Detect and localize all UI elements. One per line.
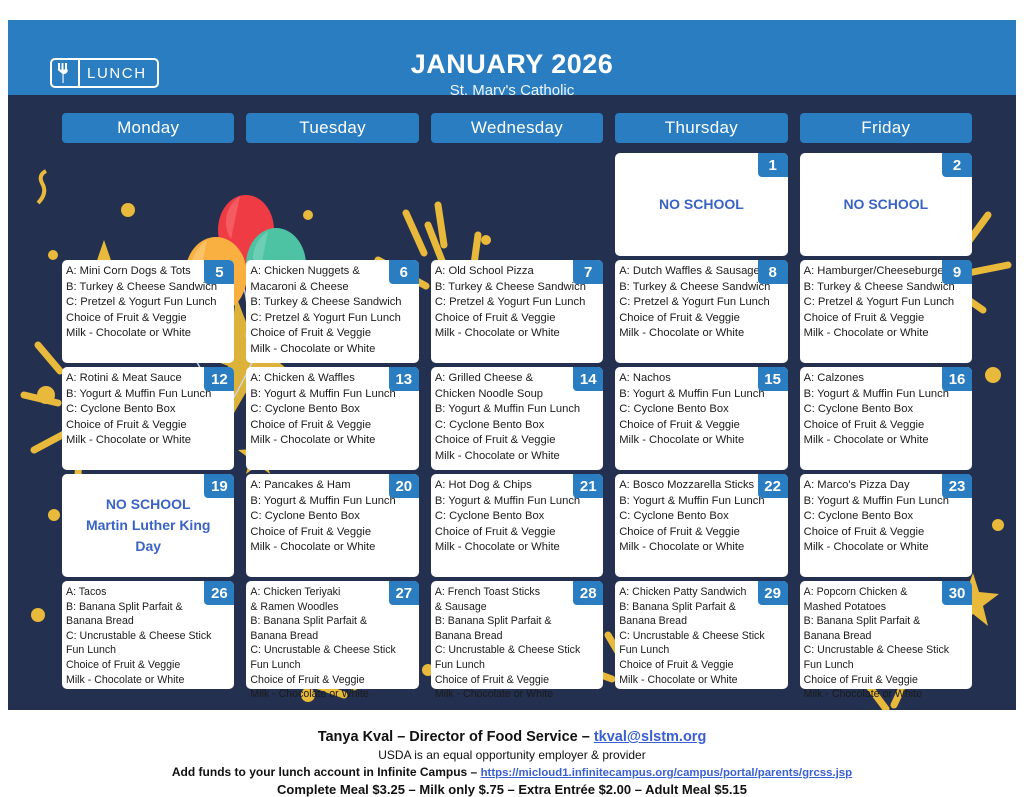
menu-line: B: Banana Split Parfait & [250, 614, 416, 629]
day-number: 12 [204, 367, 234, 391]
day-number: 15 [758, 367, 788, 391]
menu-line: Choice of Fruit & Veggie [804, 311, 970, 327]
menu-line: Choice of Fruit & Veggie [804, 418, 970, 434]
menu-line: Milk - Chocolate or White [250, 540, 416, 556]
menu-line: Milk - Chocolate or White [804, 326, 970, 342]
menu-line: Milk - Chocolate or White [804, 540, 970, 556]
menu-line: Banana Bread [435, 629, 601, 644]
calendar-day-29[interactable]: 29 A: Chicken Patty SandwichB: Banana Sp… [615, 581, 787, 689]
day-header-thursday: Thursday [615, 113, 787, 143]
menu-line: Milk - Chocolate or White [619, 540, 785, 556]
menu-line: C: Uncrustable & Cheese Stick [250, 643, 416, 658]
menu-line: C: Cyclone Bento Box [250, 509, 416, 525]
menu-line: Choice of Fruit & Veggie [250, 525, 416, 541]
calendar-body: Monday Tuesday Wednesday Thursday Friday… [8, 95, 1016, 710]
menu-line: Milk - Chocolate or White [250, 342, 416, 358]
day-number: 2 [942, 153, 972, 177]
menu-line: Milk - Chocolate or White [435, 326, 601, 342]
menu-line: C: Cyclone Bento Box [619, 402, 785, 418]
calendar-day-27[interactable]: 27 A: Chicken Teriyaki& Ramen WoodlesB: … [246, 581, 418, 689]
day-number: 19 [204, 474, 234, 498]
menu-line: Banana Bread [804, 629, 970, 644]
menu-line: Milk - Chocolate or White [435, 687, 601, 702]
calendar-day-16[interactable]: 16 A: CalzonesB: Yogurt & Muffin Fun Lun… [800, 367, 972, 470]
calendar-cell-blank [62, 153, 234, 256]
calendar-header: LUNCH JANUARY 2026 St. Mary's Catholic [8, 20, 1016, 95]
menu-line: Milk - Chocolate or White [619, 433, 785, 449]
menu-line: C: Uncrustable & Cheese Stick [66, 629, 232, 644]
menu-line: Milk - Chocolate or White [66, 673, 232, 688]
menu-line: Banana Bread [250, 629, 416, 644]
menu-line: Choice of Fruit & Veggie [250, 326, 416, 342]
menu-line: Fun Lunch [804, 658, 970, 673]
menu-line: C: Cyclone Bento Box [804, 509, 970, 525]
day-number: 30 [942, 581, 972, 605]
day-number: 16 [942, 367, 972, 391]
day-number: 8 [758, 260, 788, 284]
menu-line: Choice of Fruit & Veggie [66, 311, 232, 327]
menu-line: C: Cyclone Bento Box [435, 509, 601, 525]
menu-line: Choice of Fruit & Veggie [619, 418, 785, 434]
calendar-week-row: 5 A: Mini Corn Dogs & TotsB: Turkey & Ch… [62, 260, 972, 363]
menu-line: B: Banana Split Parfait & [804, 614, 970, 629]
menu-line: C: Cyclone Bento Box [250, 402, 416, 418]
add-funds-label: Add funds to your lunch account in Infin… [172, 765, 481, 779]
calendar-week-row: 1 NO SCHOOL 2 NO SCHOOL [62, 153, 972, 256]
menu-line: Milk - Chocolate or White [804, 433, 970, 449]
calendar-day-15[interactable]: 15 A: NachosB: Yogurt & Muffin Fun Lunch… [615, 367, 787, 470]
menu-line: Fun Lunch [250, 658, 416, 673]
calendar-week-row: 12 A: Rotini & Meat SauceB: Yogurt & Muf… [62, 367, 972, 470]
menu-line: C: Cyclone Bento Box [66, 402, 232, 418]
calendar-week-row: 19 NO SCHOOLMartin Luther KingDay 20 A: … [62, 474, 972, 577]
calendar-grid: Monday Tuesday Wednesday Thursday Friday… [8, 95, 1016, 710]
day-number: 27 [389, 581, 419, 605]
calendar-day-20[interactable]: 20 A: Pancakes & HamB: Yogurt & Muffin F… [246, 474, 418, 577]
day-number: 5 [204, 260, 234, 284]
calendar-day-22[interactable]: 22 A: Bosco Mozzarella SticksB: Yogurt &… [615, 474, 787, 577]
menu-line: Choice of Fruit & Veggie [619, 658, 785, 673]
menu-line: Choice of Fruit & Veggie [804, 525, 970, 541]
menu-line: NO SCHOOL [106, 494, 191, 515]
day-header-row: Monday Tuesday Wednesday Thursday Friday [62, 113, 972, 143]
day-header-wednesday: Wednesday [431, 113, 603, 143]
calendar-day-9[interactable]: 9 A: Hamburger/CheeseburgerB: Turkey & C… [800, 260, 972, 363]
menu-line: Milk - Chocolate or White [804, 687, 970, 702]
calendar-cell-blank [431, 153, 603, 256]
calendar-day-5[interactable]: 5 A: Mini Corn Dogs & TotsB: Turkey & Ch… [62, 260, 234, 363]
menu-line: Choice of Fruit & Veggie [435, 525, 601, 541]
menu-line: Milk - Chocolate or White [66, 326, 232, 342]
menu-line: Choice of Fruit & Veggie [66, 418, 232, 434]
day-number: 20 [389, 474, 419, 498]
calendar-day-7[interactable]: 7 A: Old School PizzaB: Turkey & Cheese … [431, 260, 603, 363]
menu-line: Choice of Fruit & Veggie [435, 433, 601, 449]
day-number: 6 [389, 260, 419, 284]
calendar-day-28[interactable]: 28 A: French Toast Sticks& SausageB: Ban… [431, 581, 603, 689]
menu-line: B: Banana Split Parfait & [435, 614, 601, 629]
menu-line: C: Cyclone Bento Box [619, 509, 785, 525]
menu-line: Choice of Fruit & Veggie [250, 418, 416, 434]
calendar-day-23[interactable]: 23 A: Marco's Pizza DayB: Yogurt & Muffi… [800, 474, 972, 577]
menu-line: Milk - Chocolate or White [435, 540, 601, 556]
day-number: 9 [942, 260, 972, 284]
menu-line: Fun Lunch [435, 658, 601, 673]
day-number: 13 [389, 367, 419, 391]
menu-line: Milk - Chocolate or White [250, 687, 416, 702]
menu-line: Banana Bread [66, 614, 232, 629]
page-title: JANUARY 2026 [8, 49, 1016, 80]
calendar-day-1[interactable]: 1 NO SCHOOL [615, 153, 787, 256]
menu-line: C: Pretzel & Yogurt Fun Lunch [250, 311, 416, 327]
calendar-week-row: 26 A: TacosB: Banana Split Parfait &Bana… [62, 581, 972, 689]
day-number: 29 [758, 581, 788, 605]
day-number: 23 [942, 474, 972, 498]
calendar-day-6[interactable]: 6 A: Chicken Nuggets &Macaroni & CheeseB… [246, 260, 418, 363]
menu-line: Choice of Fruit & Veggie [435, 311, 601, 327]
menu-line: Choice of Fruit & Veggie [435, 673, 601, 688]
menu-line: Milk - Chocolate or White [619, 673, 785, 688]
calendar-day-26[interactable]: 26 A: TacosB: Banana Split Parfait &Bana… [62, 581, 234, 689]
menu-line: C: Pretzel & Yogurt Fun Lunch [435, 295, 601, 311]
menu-line: Banana Bread [619, 614, 785, 629]
lunch-calendar-page: LUNCH JANUARY 2026 St. Mary's Catholic [0, 0, 1024, 791]
menu-line: Choice of Fruit & Veggie [66, 658, 232, 673]
day-header-monday: Monday [62, 113, 234, 143]
calendar-day-21[interactable]: 21 A: Hot Dog & ChipsB: Yogurt & Muffin … [431, 474, 603, 577]
menu-line: Choice of Fruit & Veggie [250, 673, 416, 688]
calendar-day-30[interactable]: 30 A: Popcorn Chicken &Mashed PotatoesB:… [800, 581, 972, 689]
menu-line: B: Yogurt & Muffin Fun Lunch [435, 402, 601, 418]
day-header-friday: Friday [800, 113, 972, 143]
usda-statement: USDA is an equal opportunity employer & … [0, 748, 1024, 762]
day-number: 21 [573, 474, 603, 498]
contact-name: Tanya Kval – Director of Food Service – [318, 729, 594, 745]
calendar-day-13[interactable]: 13 A: Chicken & WafflesB: Yogurt & Muffi… [246, 367, 418, 470]
day-number: 22 [758, 474, 788, 498]
day-number: 28 [573, 581, 603, 605]
meal-prices: Complete Meal $3.25 – Milk only $.75 – E… [0, 782, 1024, 797]
menu-line: Day [135, 536, 161, 557]
menu-line: Fun Lunch [66, 643, 232, 658]
calendar-day-19[interactable]: 19 NO SCHOOLMartin Luther KingDay [62, 474, 234, 577]
menu-line: Choice of Fruit & Veggie [804, 673, 970, 688]
menu-line: Choice of Fruit & Veggie [619, 525, 785, 541]
calendar-footer: Tanya Kval – Director of Food Service – … [0, 712, 1024, 797]
menu-line: Milk - Chocolate or White [66, 433, 232, 449]
calendar-day-2[interactable]: 2 NO SCHOOL [800, 153, 972, 256]
menu-line: C: Cyclone Bento Box [435, 418, 601, 434]
menu-line: Fun Lunch [619, 643, 785, 658]
calendar-day-8[interactable]: 8 A: Dutch Waffles & SausageB: Turkey & … [615, 260, 787, 363]
menu-line: Martin Luther King [86, 515, 210, 536]
add-funds-line: Add funds to your lunch account in Infin… [0, 765, 1024, 779]
menu-line: Choice of Fruit & Veggie [619, 311, 785, 327]
menu-line: Milk - Chocolate or White [250, 433, 416, 449]
infinite-campus-link[interactable]: https://micloud1.infinitecampus.org/camp… [481, 767, 853, 779]
contact-email-link[interactable]: tkval@slstm.org [594, 729, 706, 745]
day-number: 14 [573, 367, 603, 391]
menu-line: C: Uncrustable & Cheese Stick [435, 643, 601, 658]
day-number: 26 [204, 581, 234, 605]
calendar-day-12[interactable]: 12 A: Rotini & Meat SauceB: Yogurt & Muf… [62, 367, 234, 470]
menu-line: Milk - Chocolate or White [619, 326, 785, 342]
menu-line: C: Uncrustable & Cheese Stick [804, 643, 970, 658]
menu-line: C: Pretzel & Yogurt Fun Lunch [619, 295, 785, 311]
day-number: 7 [573, 260, 603, 284]
day-header-tuesday: Tuesday [246, 113, 418, 143]
calendar-cell-blank [246, 153, 418, 256]
menu-line: C: Uncrustable & Cheese Stick [619, 629, 785, 644]
menu-line: C: Cyclone Bento Box [804, 402, 970, 418]
day-number: 1 [758, 153, 788, 177]
menu-line: C: Pretzel & Yogurt Fun Lunch [804, 295, 970, 311]
menu-line: Milk - Chocolate or White [435, 449, 601, 465]
food-service-contact: Tanya Kval – Director of Food Service – … [0, 729, 1024, 745]
menu-line: B: Turkey & Cheese Sandwich [250, 295, 416, 311]
menu-line: C: Pretzel & Yogurt Fun Lunch [66, 295, 232, 311]
calendar-day-14[interactable]: 14 A: Grilled Cheese &Chicken Noodle Sou… [431, 367, 603, 470]
